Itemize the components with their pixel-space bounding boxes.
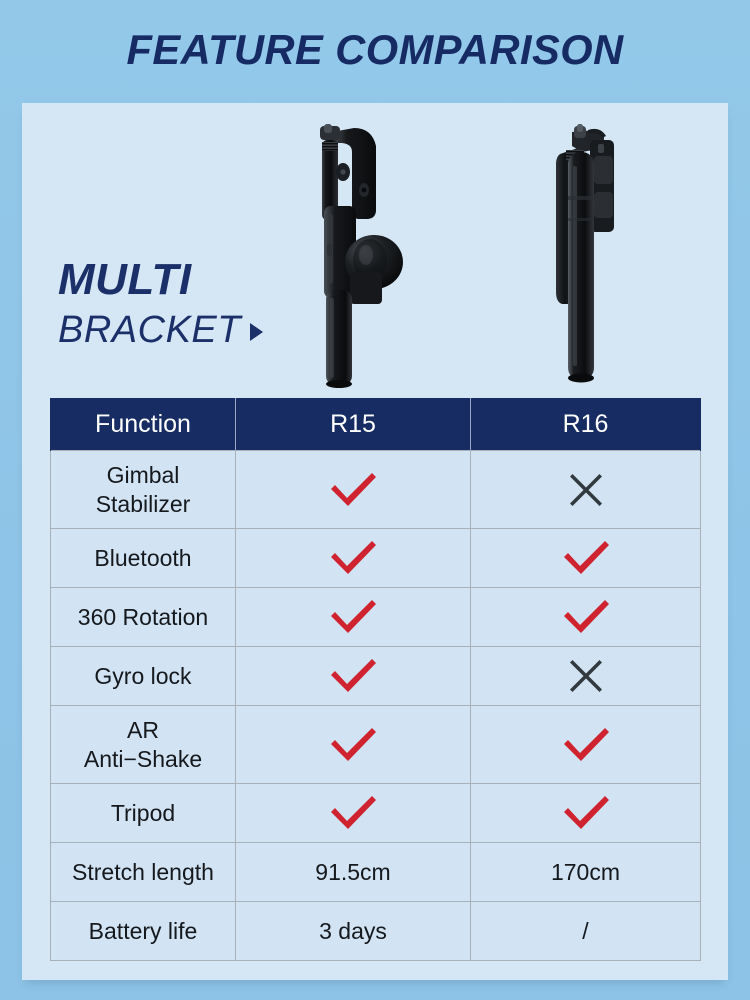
feature-name-cell: Battery life (51, 902, 236, 961)
check-icon (327, 794, 379, 832)
r16-cell (471, 588, 701, 647)
column-header-r16: R16 (471, 398, 701, 451)
check-icon (327, 471, 379, 509)
feature-name-line: Anti−Shake (55, 745, 231, 773)
lead-heading: MULTI BRACKET (58, 258, 263, 349)
r15-cell (236, 706, 471, 784)
r15-value: 3 days (319, 918, 387, 944)
r15-cell (236, 588, 471, 647)
product-image-r16 (538, 122, 648, 392)
check-icon (560, 598, 612, 636)
table-row: Bluetooth (51, 529, 701, 588)
feature-name-line: Stabilizer (55, 490, 231, 518)
table-row: 360 Rotation (51, 588, 701, 647)
feature-name-line: Gimbal (55, 461, 231, 489)
r16-cell (471, 784, 701, 843)
check-icon (560, 539, 612, 577)
feature-name-line: Tripod (55, 799, 231, 827)
product-image-r15 (298, 122, 428, 392)
page-title: FEATURE COMPARISON (126, 26, 623, 74)
r16-cell (471, 529, 701, 588)
check-icon (327, 657, 379, 695)
feature-name-line: Stretch length (55, 858, 231, 886)
table-row: Gyro lock (51, 647, 701, 706)
feature-name-cell: Tripod (51, 784, 236, 843)
check-icon (327, 598, 379, 636)
r16-cell (471, 647, 701, 706)
r15-cell: 91.5cm (236, 843, 471, 902)
check-icon (327, 539, 379, 577)
r15-cell (236, 529, 471, 588)
check-icon (560, 794, 612, 832)
r15-cell (236, 647, 471, 706)
feature-name-line: Battery life (55, 917, 231, 945)
feature-name-cell: GimbalStabilizer (51, 451, 236, 529)
table-body: GimbalStabilizerBluetooth360 RotationGyr… (51, 451, 701, 961)
feature-name-line: Bluetooth (55, 544, 231, 572)
r16-cell (471, 706, 701, 784)
r15-cell (236, 784, 471, 843)
lead-line-2: BRACKET (58, 311, 241, 349)
cross-icon (569, 473, 603, 507)
feature-name-cell: Bluetooth (51, 529, 236, 588)
r16-value: 170cm (551, 859, 620, 885)
lead-line-1: MULTI (58, 258, 263, 302)
feature-name-cell: Stretch length (51, 843, 236, 902)
table-row: ARAnti−Shake (51, 706, 701, 784)
title-bar: FEATURE COMPARISON (0, 0, 750, 100)
r16-cell: 170cm (471, 843, 701, 902)
r16-cell: / (471, 902, 701, 961)
r15-cell: 3 days (236, 902, 471, 961)
lead-line-2-row: BRACKET (58, 311, 263, 349)
feature-name-cell: Gyro lock (51, 647, 236, 706)
check-icon (560, 726, 612, 764)
feature-name-line: 360 Rotation (55, 603, 231, 631)
table-row: GimbalStabilizer (51, 451, 701, 529)
feature-name-line: AR (55, 716, 231, 744)
column-header-r15: R15 (236, 398, 471, 451)
table-row: Stretch length91.5cm170cm (51, 843, 701, 902)
table-row: Battery life3 days/ (51, 902, 701, 961)
r15-value: 91.5cm (315, 859, 390, 885)
r16-cell (471, 451, 701, 529)
column-header-function: Function (51, 398, 236, 451)
feature-name-cell: 360 Rotation (51, 588, 236, 647)
feature-name-line: Gyro lock (55, 662, 231, 690)
r15-cell (236, 451, 471, 529)
comparison-infographic: FEATURE COMPARISON MULTI BRACKET (0, 0, 750, 1000)
cross-icon (569, 659, 603, 693)
table-row: Tripod (51, 784, 701, 843)
feature-name-cell: ARAnti−Shake (51, 706, 236, 784)
comparison-table: Function R15 R16 GimbalStabilizerBluetoo… (50, 398, 701, 961)
check-icon (327, 726, 379, 764)
triangle-right-icon (250, 323, 263, 341)
table-header-row: Function R15 R16 (51, 398, 701, 451)
r16-value: / (582, 918, 588, 944)
